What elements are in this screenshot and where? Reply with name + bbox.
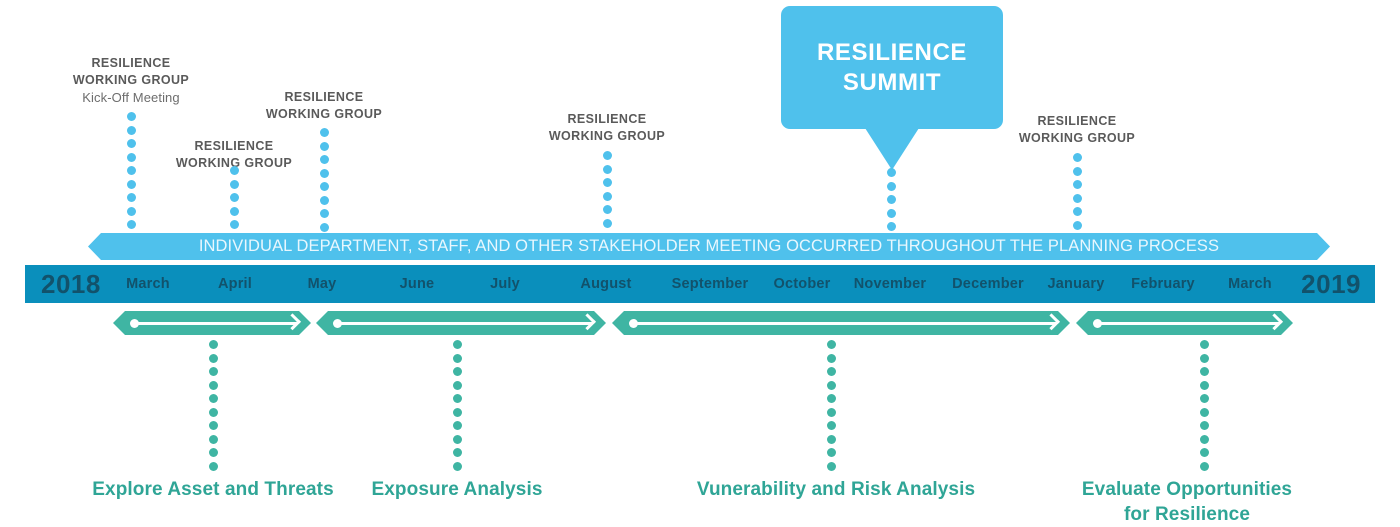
connector-dot (453, 435, 462, 444)
connector-dot (209, 448, 218, 457)
connector-dot (1073, 180, 1082, 189)
summit-callout-pointer (865, 128, 919, 170)
connector-dot (1200, 354, 1209, 363)
phase-arrow-line (634, 322, 1056, 325)
working-group-label-line1: RESILIENCE (477, 111, 737, 128)
dot-connector-column (123, 112, 139, 243)
month-label: August (580, 276, 631, 292)
phase-caption: Vunerability and Risk Analysis (697, 477, 975, 502)
connector-dot (887, 209, 896, 218)
summit-title-line2: SUMMIT (843, 68, 941, 98)
connector-dot (827, 448, 836, 457)
connector-dot (453, 394, 462, 403)
phase-arrow-head-icon (284, 313, 301, 330)
month-label: March (126, 276, 170, 292)
connector-dot (209, 394, 218, 403)
connector-dot (1200, 367, 1209, 376)
dot-connector-column (599, 151, 615, 228)
year-end-label: 2019 (1301, 269, 1361, 300)
connector-dot (603, 219, 612, 228)
connector-dot (209, 340, 218, 349)
phase-caption: Evaluate Opportunitiesfor Resilience (1082, 477, 1292, 527)
connector-dot (1200, 394, 1209, 403)
connector-dot (209, 381, 218, 390)
stakeholder-banner-text: INDIVIDUAL DEPARTMENT, STAFF, AND OTHER … (199, 237, 1219, 256)
connector-dot (320, 209, 329, 218)
connector-dot (209, 421, 218, 430)
connector-dot (127, 193, 136, 202)
working-group-label: RESILIENCEWORKING GROUP (194, 89, 454, 123)
month-label: September (672, 276, 749, 292)
connector-dot (127, 207, 136, 216)
connector-dot (887, 195, 896, 204)
connector-dot (230, 220, 239, 229)
connector-dot (230, 180, 239, 189)
connector-dot (1073, 167, 1082, 176)
connector-dot (453, 421, 462, 430)
connector-dot (1200, 381, 1209, 390)
phase-caption-line1: Evaluate Opportunities (1082, 477, 1292, 502)
stakeholder-meeting-banner: INDIVIDUAL DEPARTMENT, STAFF, AND OTHER … (88, 233, 1330, 260)
phase-caption-line2: for Resilience (1082, 502, 1292, 527)
connector-dot (453, 462, 462, 471)
connector-dot (127, 112, 136, 121)
connector-dot (1200, 421, 1209, 430)
month-label: July (490, 276, 520, 292)
connector-dot (320, 142, 329, 151)
connector-dot (827, 367, 836, 376)
connector-dot (127, 126, 136, 135)
connector-dot (453, 381, 462, 390)
connector-dot (1200, 448, 1209, 457)
connector-dot (1073, 153, 1082, 162)
phase-bar (612, 311, 1070, 335)
year-start-label: 2018 (41, 269, 101, 300)
month-label: October (774, 276, 831, 292)
connector-dot (320, 223, 329, 232)
connector-dot (887, 182, 896, 191)
phase-bar (113, 311, 311, 335)
working-group-label: RESILIENCEWORKING GROUP (477, 111, 737, 145)
connector-dot (209, 367, 218, 376)
connector-dot (1073, 207, 1082, 216)
connector-dot (603, 151, 612, 160)
working-group-label-line2: WORKING GROUP (947, 130, 1207, 147)
month-label: April (218, 276, 252, 292)
connector-dot (603, 205, 612, 214)
dot-connector-column (205, 340, 221, 471)
month-label: March (1228, 276, 1272, 292)
connector-dot (1073, 194, 1082, 203)
timeline-infographic: RESILIENCEWORKING GROUPKick-Off MeetingR… (0, 0, 1400, 527)
connector-dot (603, 165, 612, 174)
connector-dot (127, 220, 136, 229)
connector-dot (320, 196, 329, 205)
connector-dot (453, 448, 462, 457)
connector-dot (127, 139, 136, 148)
connector-dot (827, 462, 836, 471)
connector-dot (230, 207, 239, 216)
month-label: June (400, 276, 435, 292)
working-group-label-line1: RESILIENCE (194, 89, 454, 106)
connector-dot (1200, 408, 1209, 417)
phase-arrow-head-icon (579, 313, 596, 330)
connector-dot (827, 421, 836, 430)
phase-arrow-start-dot (1093, 319, 1102, 328)
connector-dot (827, 354, 836, 363)
connector-dot (603, 192, 612, 201)
connector-dot (230, 166, 239, 175)
connector-dot (320, 169, 329, 178)
phase-caption-line1: Explore Asset and Threats (92, 477, 333, 502)
phase-caption: Exposure Analysis (371, 477, 542, 502)
connector-dot (209, 354, 218, 363)
month-label: May (308, 276, 337, 292)
connector-dot (230, 193, 239, 202)
connector-dot (127, 180, 136, 189)
connector-dot (320, 128, 329, 137)
connector-dot (827, 394, 836, 403)
dot-connector-column (316, 128, 332, 232)
summit-title-line1: RESILIENCE (817, 38, 967, 68)
working-group-label-line2: WORKING GROUP (1, 72, 261, 89)
phase-arrow-line (1098, 322, 1279, 325)
connector-dot (827, 381, 836, 390)
working-group-label-line1: RESILIENCE (1, 55, 261, 72)
connector-dot (1200, 340, 1209, 349)
phase-caption: Explore Asset and Threats (92, 477, 333, 502)
connector-dot (887, 222, 896, 231)
connector-dot (1073, 221, 1082, 230)
connector-dot (209, 408, 218, 417)
dot-connector-column (226, 166, 242, 243)
phase-arrow-head-icon (1043, 313, 1060, 330)
working-group-label-line2: WORKING GROUP (477, 128, 737, 145)
connector-dot (453, 367, 462, 376)
connector-dot (453, 340, 462, 349)
phase-caption-line1: Exposure Analysis (371, 477, 542, 502)
dot-connector-column (823, 340, 839, 471)
phase-bar (1076, 311, 1293, 335)
phase-bar (316, 311, 606, 335)
working-group-label-line2: WORKING GROUP (194, 106, 454, 123)
connector-dot (827, 340, 836, 349)
phase-arrow-start-dot (333, 319, 342, 328)
phase-arrow-start-dot (130, 319, 139, 328)
phase-arrow-line (338, 322, 592, 325)
connector-dot (827, 408, 836, 417)
connector-dot (1200, 462, 1209, 471)
connector-dot (127, 166, 136, 175)
connector-dot (320, 182, 329, 191)
connector-dot (603, 178, 612, 187)
phase-caption-line1: Vunerability and Risk Analysis (697, 477, 975, 502)
phase-arrow-line (135, 322, 297, 325)
month-label: December (952, 276, 1024, 292)
connector-dot (209, 462, 218, 471)
connector-dot (1200, 435, 1209, 444)
connector-dot (127, 153, 136, 162)
resilience-summit-callout: RESILIENCE SUMMIT (781, 6, 1003, 129)
phase-arrow-start-dot (629, 319, 638, 328)
phase-arrow-head-icon (1266, 313, 1283, 330)
connector-dot (320, 155, 329, 164)
month-label: November (854, 276, 927, 292)
timeline-month-bar: 2018 2019 MarchAprilMayJuneJulyAugustSep… (25, 265, 1375, 303)
dot-connector-column (1069, 153, 1085, 230)
dot-connector-column (883, 168, 899, 231)
dot-connector-column (449, 340, 465, 471)
connector-dot (453, 354, 462, 363)
connector-dot (209, 435, 218, 444)
dot-connector-column (1196, 340, 1212, 471)
connector-dot (827, 435, 836, 444)
month-label: January (1047, 276, 1104, 292)
connector-dot (453, 408, 462, 417)
month-label: February (1131, 276, 1195, 292)
